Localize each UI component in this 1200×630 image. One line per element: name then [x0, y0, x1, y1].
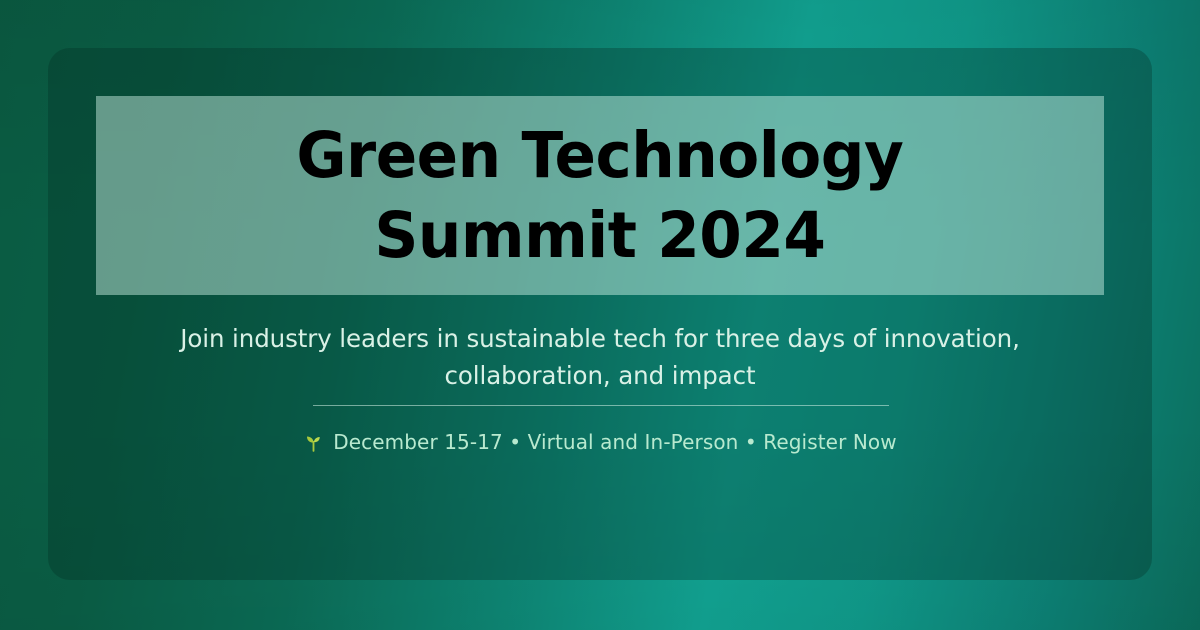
- divider: [313, 405, 889, 406]
- page-title: Green Technology Summit 2024: [279, 116, 921, 275]
- banner-card: Green Technology Summit 2024 Join indust…: [48, 48, 1152, 580]
- subtitle-text: Join industry leaders in sustainable tec…: [96, 320, 1104, 394]
- event-meta-row: December 15-17 • Virtual and In-Person •…: [96, 430, 1104, 454]
- sprout-icon: [303, 432, 324, 453]
- event-meta-text: December 15-17 • Virtual and In-Person •…: [333, 430, 896, 454]
- event-banner: Green Technology Summit 2024 Join indust…: [0, 0, 1200, 630]
- title-band: Green Technology Summit 2024: [96, 96, 1104, 295]
